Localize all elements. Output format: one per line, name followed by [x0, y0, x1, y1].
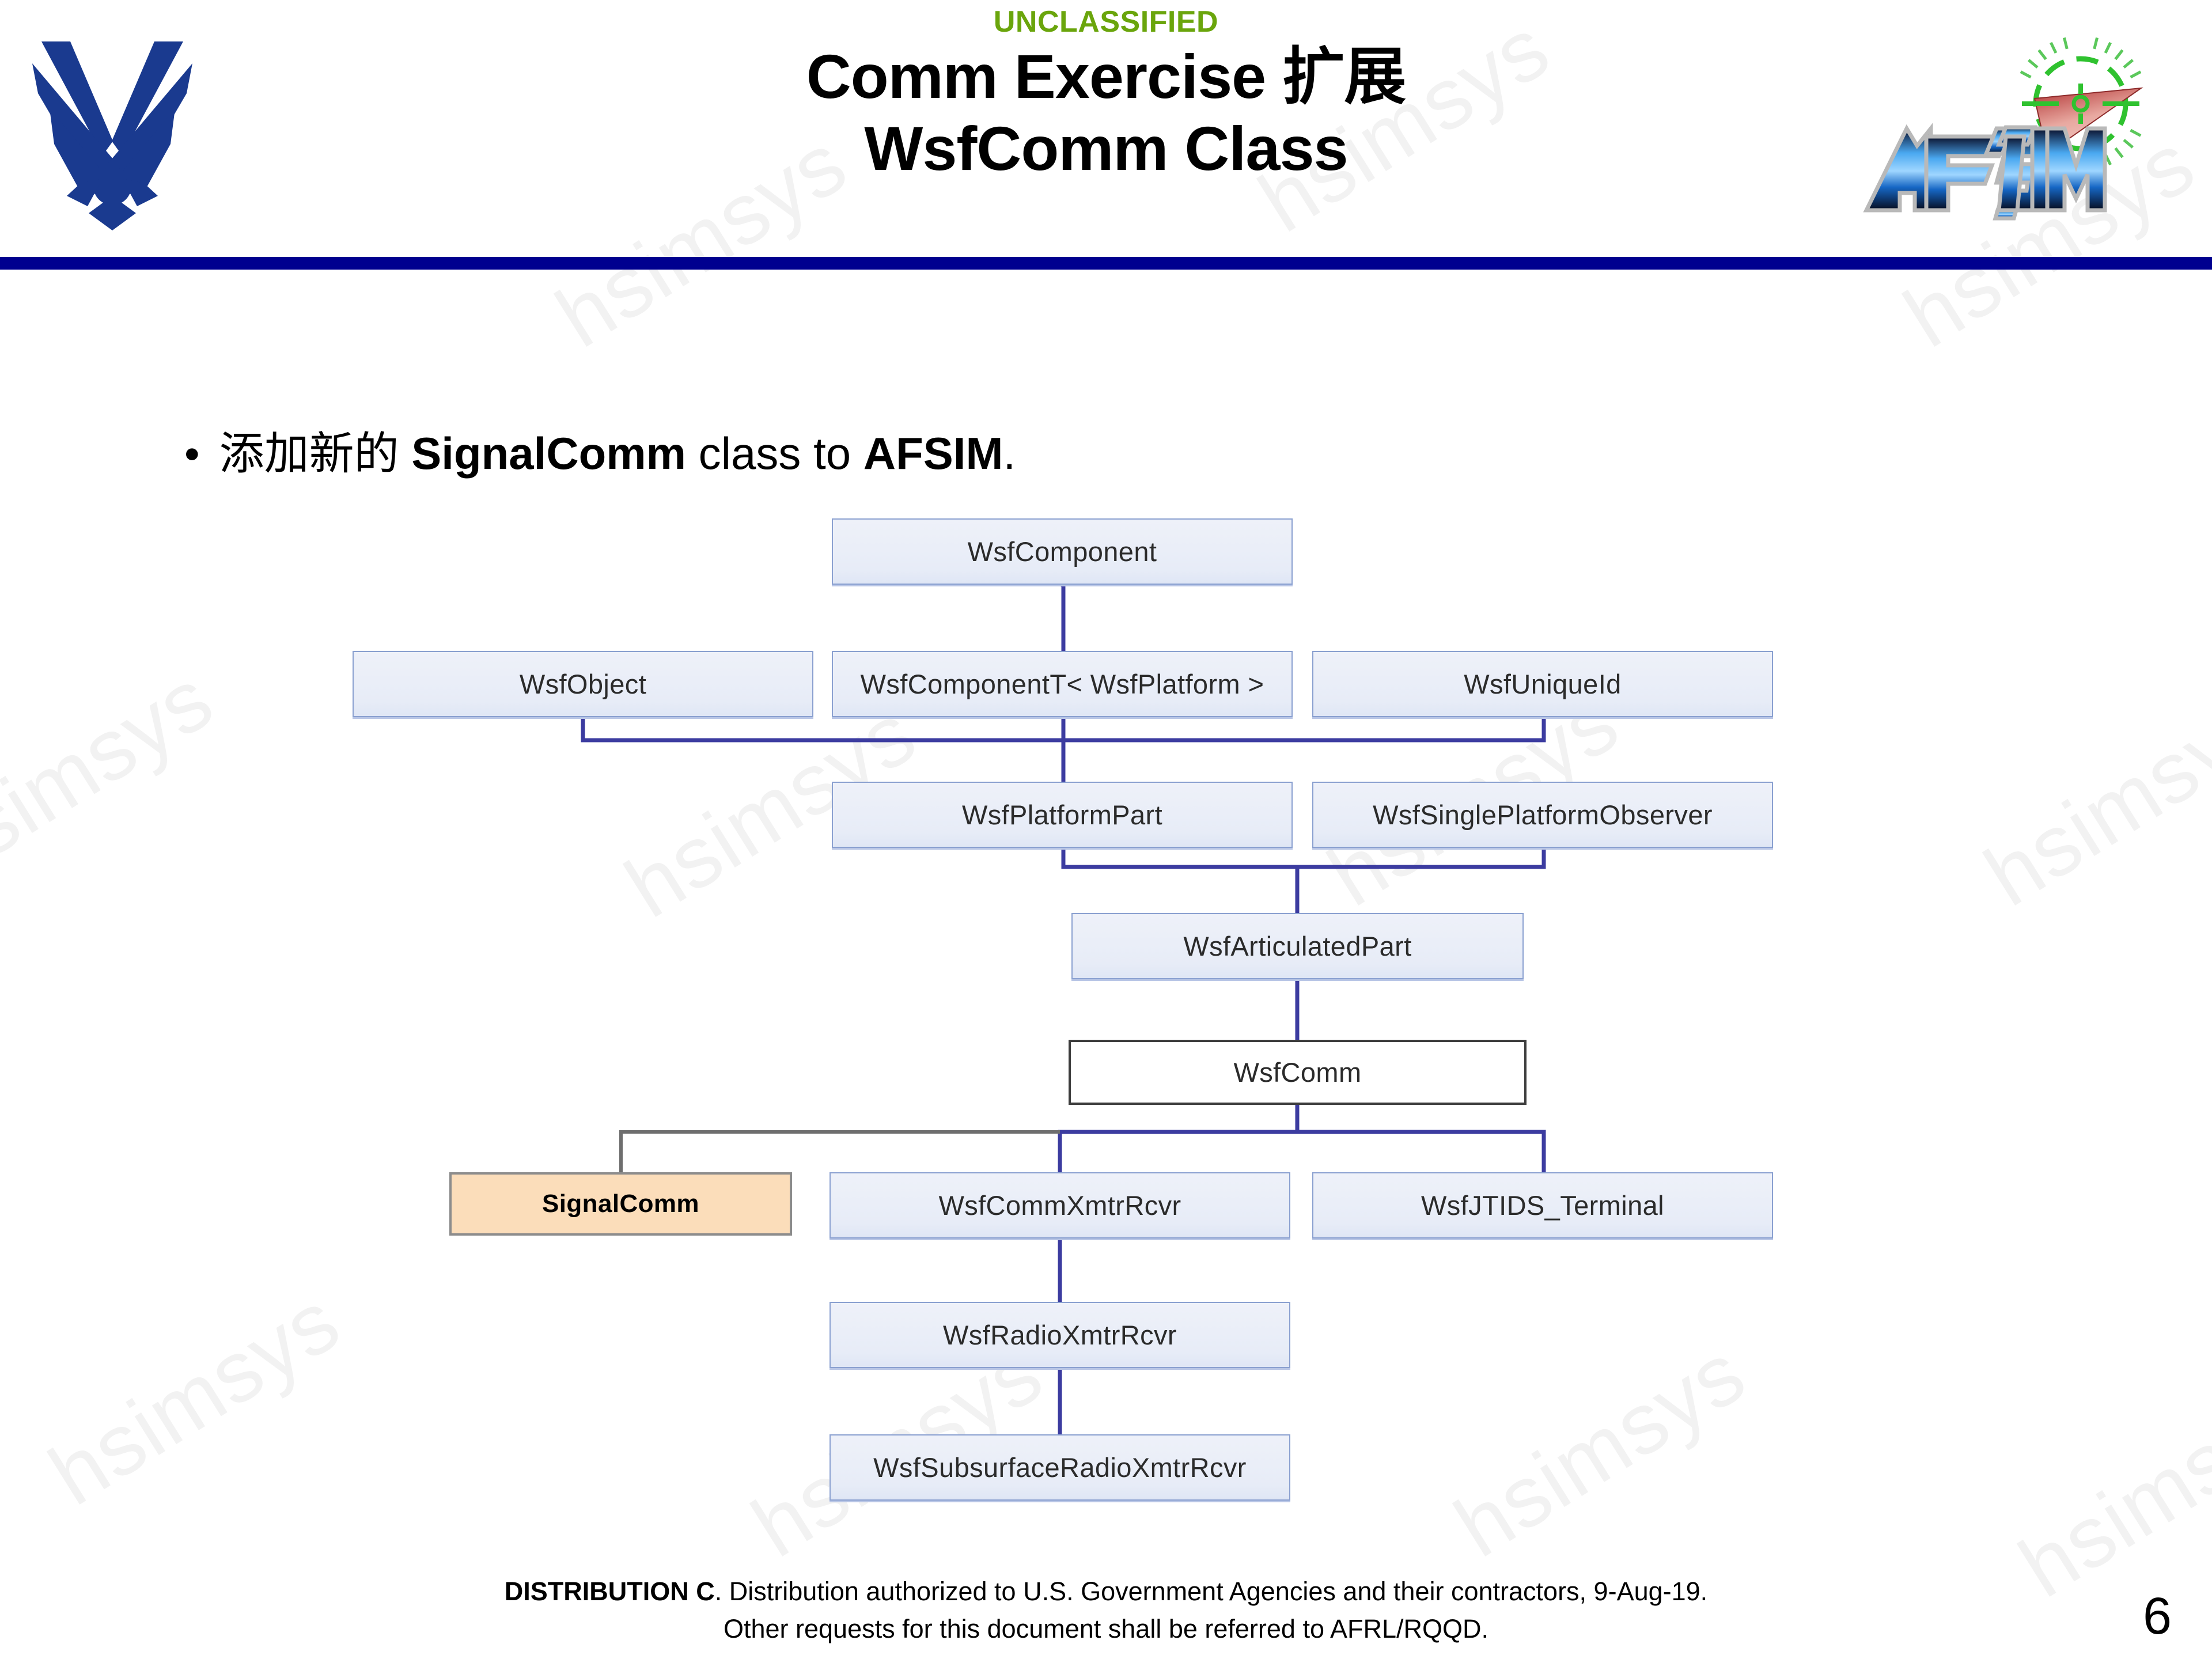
node-wsfsingleplatformobserver[interactable]: WsfSinglePlatformObserver [1312, 782, 1773, 848]
bullet-item: • 添加新的 SignalComm class to AFSIM. [184, 418, 1016, 482]
node-wsfarticulatedpart[interactable]: WsfArticulatedPart [1071, 913, 1524, 979]
node-label: WsfComponent [968, 536, 1157, 567]
distribution-statement: DISTRIBUTION C. Distribution authorized … [0, 1573, 2212, 1648]
node-label: WsfUniqueId [1464, 668, 1621, 700]
bullet-prefix: 添加新的 [219, 428, 412, 479]
node-wsfuniqueid[interactable]: WsfUniqueId [1312, 651, 1773, 717]
header-divider-rule [0, 257, 2212, 270]
bullet-marker: • [184, 433, 200, 476]
node-wsfradioxmtrrcvr[interactable]: WsfRadioXmtrRcvr [829, 1302, 1290, 1368]
node-label: SignalComm [542, 1190, 699, 1218]
node-label: WsfJTIDS_Terminal [1421, 1190, 1664, 1221]
edge-signalcomm-comm [621, 1132, 1060, 1172]
distribution-label: DISTRIBUTION C [505, 1577, 715, 1606]
node-wsfjtids-terminal[interactable]: WsfJTIDS_Terminal [1312, 1172, 1773, 1238]
bullet-bold-afsim: AFSIM [863, 428, 1003, 479]
node-wsfcomponent[interactable]: WsfComponent [832, 518, 1293, 585]
node-signalcomm[interactable]: SignalComm [449, 1172, 792, 1236]
node-label: WsfRadioXmtrRcvr [943, 1319, 1177, 1351]
bullet-middle: class to [686, 428, 863, 479]
node-label: WsfArticulatedPart [1183, 930, 1411, 962]
node-label: WsfPlatformPart [962, 799, 1162, 831]
bullet-suffix: . [1003, 428, 1016, 479]
slide-header: UNCLASSIFIED Comm Exercise 扩展 WsfComm Cl… [0, 0, 2212, 271]
node-label: WsfObject [520, 668, 646, 700]
node-wsfsubsurfaceradioxmtrrcvr[interactable]: WsfSubsurfaceRadioXmtrRcvr [829, 1434, 1290, 1501]
node-wsfcomm[interactable]: WsfComm [1069, 1040, 1527, 1105]
distribution-line-2: Other requests for this document shall b… [0, 1610, 2212, 1647]
node-label: WsfCommXmtrRcvr [938, 1190, 1181, 1221]
distribution-line-1: DISTRIBUTION C. Distribution authorized … [0, 1573, 2212, 1610]
bullet-bold-signalcomm: SignalComm [411, 428, 686, 479]
node-wsfplatformpart[interactable]: WsfPlatformPart [832, 782, 1293, 848]
bullet-text: 添加新的 SignalComm class to AFSIM. [219, 418, 1016, 482]
node-label: WsfSinglePlatformObserver [1373, 799, 1713, 831]
page-number: 6 [2143, 1587, 2172, 1646]
distribution-line-1-rest: . Distribution authorized to U.S. Govern… [715, 1577, 1707, 1606]
node-wsfcommxmtrrcvr[interactable]: WsfCommXmtrRcvr [829, 1172, 1290, 1238]
afsim-logo [1862, 20, 2190, 228]
node-label: WsfComponentT< WsfPlatform > [861, 668, 1264, 700]
node-label: WsfComm [1233, 1056, 1361, 1088]
node-wsfobject[interactable]: WsfObject [353, 651, 813, 717]
node-wsfcomponentt[interactable]: WsfComponentT< WsfPlatform > [832, 651, 1293, 717]
node-label: WsfSubsurfaceRadioXmtrRcvr [873, 1452, 1247, 1483]
